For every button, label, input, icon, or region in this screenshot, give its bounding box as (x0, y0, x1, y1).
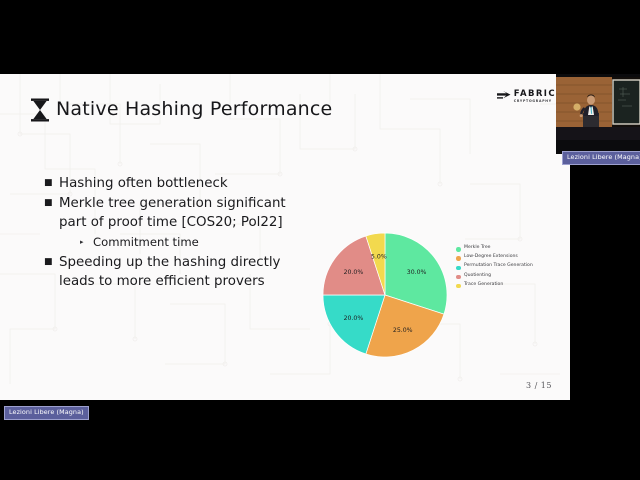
presentation-slide: Native Hashing Performance FABRIC CRYPTO… (0, 74, 570, 400)
bullet-text: Commitment time (93, 233, 309, 251)
bullet-text: Speeding up the hashing directly leads t… (59, 253, 309, 291)
bullet-list: ■ Hashing often bottleneck ■ Merkle tree… (44, 174, 309, 292)
legend-label: Trace Generation (464, 282, 561, 288)
window-title-webcam[interactable]: Lezioni Libere (Magna) (562, 151, 640, 165)
fabric-logo: FABRIC CRYPTOGRAPHY (497, 90, 556, 103)
slide-page-number: 3 / 15 (526, 381, 552, 390)
bullet-item-sub: ▸ Commitment time (80, 233, 309, 251)
legend-label: Merkle Tree (464, 245, 561, 251)
presenter-video-feed (556, 77, 640, 140)
legend-label: Permutation Trace Generation (464, 263, 561, 269)
arrow-chevron-icon (497, 91, 512, 101)
sub-bullet-marker-icon: ▸ (80, 233, 93, 251)
legend-swatch-icon (456, 247, 461, 252)
legend-label: Low-Degree Extensions (464, 254, 561, 260)
legend-item: Trace Generation (456, 282, 561, 289)
pie-slice-value-label: 30.0% (407, 269, 427, 276)
presenter-video-panel[interactable] (556, 74, 640, 154)
pie-slice-value-label: 20.0% (344, 269, 364, 276)
page-title: Native Hashing Performance (56, 98, 332, 120)
bullet-marker-icon: ■ (44, 194, 59, 213)
letterbox-bottom (0, 400, 640, 480)
pie-slices (323, 233, 447, 357)
bullet-text: Hashing often bottleneck (59, 174, 309, 193)
bullet-item: ■ Hashing often bottleneck (44, 174, 309, 193)
legend-label: Quotienting (464, 273, 561, 279)
pie-slice-value-label: 20.0% (344, 315, 364, 322)
letterbox-top (0, 0, 640, 74)
legend-swatch-icon (456, 256, 461, 261)
logo-text: FABRIC CRYPTOGRAPHY (514, 90, 556, 103)
pie-slice-value-label: 5.0% (371, 253, 387, 260)
bullet-marker-icon: ■ (44, 174, 59, 193)
legend-item: Quotienting (456, 273, 561, 280)
pie-slice-value-label: 25.0% (393, 327, 413, 334)
legend-item: Merkle Tree (456, 245, 561, 252)
legend-swatch-icon (456, 284, 461, 289)
legend-item: Low-Degree Extensions (456, 254, 561, 261)
bullet-text: Merkle tree generation significant part … (59, 194, 309, 232)
screen-root: Native Hashing Performance FABRIC CRYPTO… (0, 0, 640, 480)
bullet-item: ■ Merkle tree generation significant par… (44, 194, 309, 232)
hourglass-icon (30, 98, 50, 122)
bullet-item: ■ Speeding up the hashing directly leads… (44, 253, 309, 291)
pie-chart: 30.0%25.0%20.0%20.0%5.0% Merkle Tree Low… (310, 170, 560, 385)
window-title-taskbar[interactable]: Lezioni Libere (Magna) (4, 406, 89, 420)
legend-swatch-icon (456, 266, 461, 271)
logo-name: FABRIC (514, 90, 556, 99)
legend-swatch-icon (456, 275, 461, 280)
logo-subtitle: CRYPTOGRAPHY (514, 100, 556, 103)
bullet-marker-icon: ■ (44, 253, 59, 272)
legend-item: Permutation Trace Generation (456, 263, 561, 270)
chart-legend: Merkle Tree Low-Degree Extensions Permut… (456, 245, 561, 291)
pie-chart-svg: 30.0%25.0%20.0%20.0%5.0% (320, 230, 450, 360)
